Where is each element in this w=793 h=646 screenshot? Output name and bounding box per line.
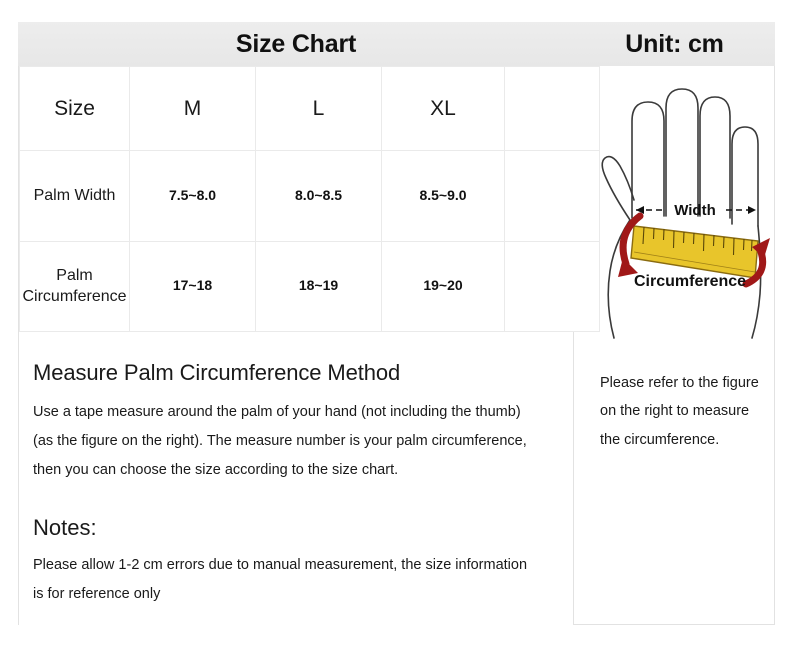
instructions-block: Measure Palm Circumference Method Use a … [19,334,573,625]
method-heading: Measure Palm Circumference Method [33,360,559,386]
cell-palm-circumference-m: 17~18 [130,241,256,331]
table-header-cell-size: Size [20,67,130,151]
cell-palm-width-xl: 8.5~9.0 [382,151,505,241]
cell-palm-width-m: 7.5~8.0 [130,151,256,241]
figure-note: Please refer to the figure on the right … [574,369,775,454]
table-header-cell-xl: XL [382,67,505,151]
method-line-2: (as the figure on the right). The measur… [33,427,559,456]
notes-heading: Notes: [33,515,559,541]
figure-note-line-3: the circumference. [600,426,759,454]
cell-palm-circumference-xl: 19~20 [382,241,505,331]
ruler-icon [631,226,758,278]
figure-panel: Width [574,66,775,625]
table-row: Palm Width 7.5~8.0 8.0~8.5 8.5~9.0 [20,151,600,241]
cell-palm-width-l: 8.0~8.5 [256,151,382,241]
method-line-3: then you can choose the size according t… [33,456,559,485]
width-label: Width [674,202,716,219]
table-header-cell-m: M [130,67,256,151]
notes-line-2: is for reference only [33,580,559,609]
table-header-cell-l: L [256,67,382,151]
size-table: Size M L XL Palm Width 7.5~8.0 8.0~8.5 8… [19,66,600,332]
row-label-line-2: Circumference [22,288,126,305]
size-chart-page: Size Chart Unit: cm Size M L XL Palm Wid… [0,0,793,646]
table-header-row: Size M L XL [20,67,600,151]
figure-note-line-1: Please refer to the figure [600,369,759,397]
method-line-1: Use a tape measure around the palm of yo… [33,398,559,427]
hand-measurement-figure: Width [574,66,775,341]
notes-text: Please allow 1-2 cm errors due to manual… [33,551,559,609]
unit-label: Unit: cm [574,22,775,66]
row-label-palm-circumference: Palm Circumference [20,241,130,331]
method-text: Use a tape measure around the palm of yo… [33,398,559,485]
page-title: Size Chart [18,22,574,66]
table-row: Palm Circumference 17~18 18~19 19~20 [20,241,600,331]
row-label-palm-width: Palm Width [20,151,130,241]
figure-note-line-2: on the right to measure [600,397,759,425]
header-band: Size Chart Unit: cm [18,22,775,66]
circumference-label: Circumference [634,273,746,290]
notes-line-1: Please allow 1-2 cm errors due to manual… [33,551,559,580]
row-label-line-1: Palm [56,267,92,284]
hand-diagram-svg: Width [574,66,775,341]
cell-palm-circumference-l: 18~19 [256,241,382,331]
